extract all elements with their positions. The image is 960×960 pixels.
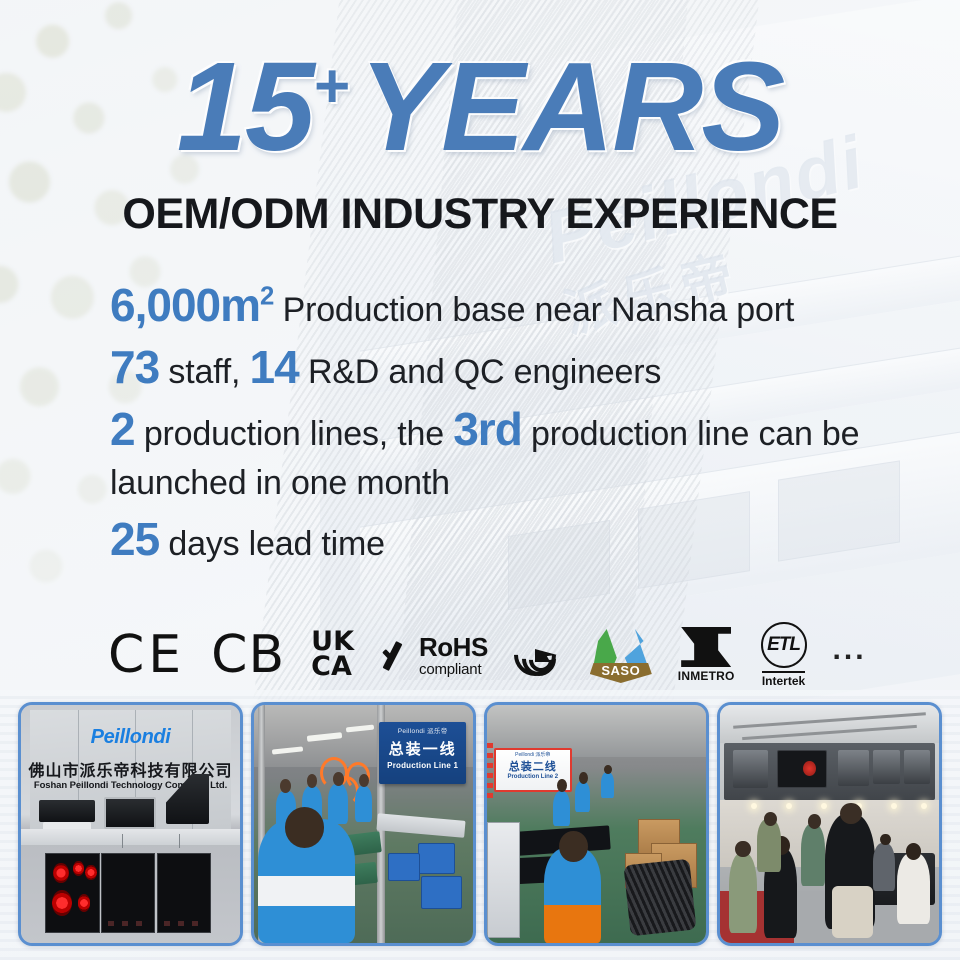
visitor (757, 819, 781, 871)
page-subtitle: OEM/ODM INDUSTRY EXPERIENCE (0, 190, 960, 239)
headline-plus: + (313, 52, 349, 121)
visitor (832, 886, 874, 938)
intertek-label: Intertek (762, 671, 805, 688)
etl-intertek-mark-icon: ETL Intertek (761, 624, 807, 686)
stat-area-superscript: 2 (260, 283, 273, 311)
headline-word: YEARS (359, 36, 783, 177)
rohs-subtitle: compliant (419, 662, 488, 677)
certification-row: CE CB UK CA RoHS compliant (108, 620, 908, 690)
stat-lead-time-days: 25 (110, 513, 159, 565)
ukca-mark-icon: UK CA (311, 624, 354, 686)
stat-item-production-lines: 2 production lines, the 3rd production l… (110, 406, 910, 500)
ukca-line-2: CA (311, 655, 354, 680)
photo-card-showroom[interactable]: Peillondi 佛山市派乐帝科技有限公司 Foshan Peillondi … (18, 702, 243, 946)
checkmark-icon (380, 635, 414, 675)
photo-card-row: Peillondi 佛山市派乐帝科技有限公司 Foshan Peillondi … (18, 702, 942, 946)
rohs-mark-icon: RoHS compliant (380, 624, 488, 686)
stat-area-number: 6,000m2 (110, 279, 273, 331)
visitor (729, 853, 757, 934)
cooktop-product (101, 853, 156, 934)
sign-chinese: 总装一线 (379, 738, 467, 759)
range-hood-product (39, 800, 96, 821)
photo-card-production-line-1[interactable]: Peillondi 派乐帝 总装一线 Production Line 1 (251, 702, 476, 946)
saso-mark-icon: SASO (590, 624, 652, 686)
ccc-mark-icon (514, 624, 564, 686)
sign-english: Production Line 1 (379, 761, 467, 770)
etl-label: ETL (761, 622, 807, 668)
photo-card-production-line-2[interactable]: Peillondi 派乐帝 总装二线 Production Line 2 (484, 702, 709, 946)
stat-lines-count: 2 (110, 403, 135, 455)
stat-item-staff: 73 staff, 14 R&D and QC engineers (110, 344, 910, 390)
sign-chinese: 总装二线 (496, 758, 570, 774)
visitor (801, 824, 825, 886)
stat-lines-continuation: launched in one month (110, 466, 910, 500)
stat-staff-count: 73 (110, 341, 159, 393)
rohs-title: RoHS (419, 634, 488, 660)
saso-label: SASO (590, 663, 652, 683)
more-certifications-ellipsis: ... (833, 624, 867, 686)
production-line-1-sign: Peillondi 派乐帝 总装一线 Production Line 1 (379, 722, 467, 784)
headline-number: 15 (177, 36, 313, 177)
sign-brand: Peillondi 派乐帝 (379, 725, 467, 735)
cooktop-product (157, 853, 212, 934)
cooktop-product (45, 853, 100, 934)
ce-mark-icon: CE (108, 624, 185, 686)
inmetro-glyph (681, 627, 731, 667)
stat-engineer-count: 14 (250, 341, 299, 393)
inmetro-label: INMETRO (678, 669, 735, 683)
inmetro-mark-icon: INMETRO (678, 624, 735, 686)
stat-lines-text: production line can be (522, 415, 860, 453)
staff (873, 843, 895, 891)
foreground-worker (544, 848, 601, 943)
stat-engineer-text: R&D and QC engineers (299, 353, 661, 391)
page-title: 15+YEARS (0, 44, 960, 170)
stat-lines-mid: production lines, the (135, 415, 454, 453)
cable-bundle (624, 859, 697, 937)
stat-item-lead-time: 25 days lead time (110, 516, 910, 562)
poster-root: Peillondi 派乐帝 15+YEARS OEM/ODM INDUSTRY … (0, 0, 960, 960)
stat-area-text: Production base near Nansha port (273, 291, 794, 329)
showroom-brand-logo: Peillondi (21, 726, 240, 749)
line-panel (487, 822, 520, 938)
stat-item-area: 6,000m2 Production base near Nansha port (110, 282, 910, 328)
stat-lead-time-text: days lead time (159, 525, 385, 563)
cb-mark-icon: CB (211, 624, 285, 686)
stat-third-line-label: 3rd (453, 403, 522, 455)
range-hood-product (104, 797, 156, 830)
staff (897, 853, 930, 924)
stat-staff-mid: staff, (159, 353, 249, 391)
photo-card-trade-show[interactable] (717, 702, 942, 946)
stats-list: 6,000m2 Production base near Nansha port… (110, 282, 910, 578)
sign-brand: Peillondi 派乐帝 (496, 751, 570, 758)
